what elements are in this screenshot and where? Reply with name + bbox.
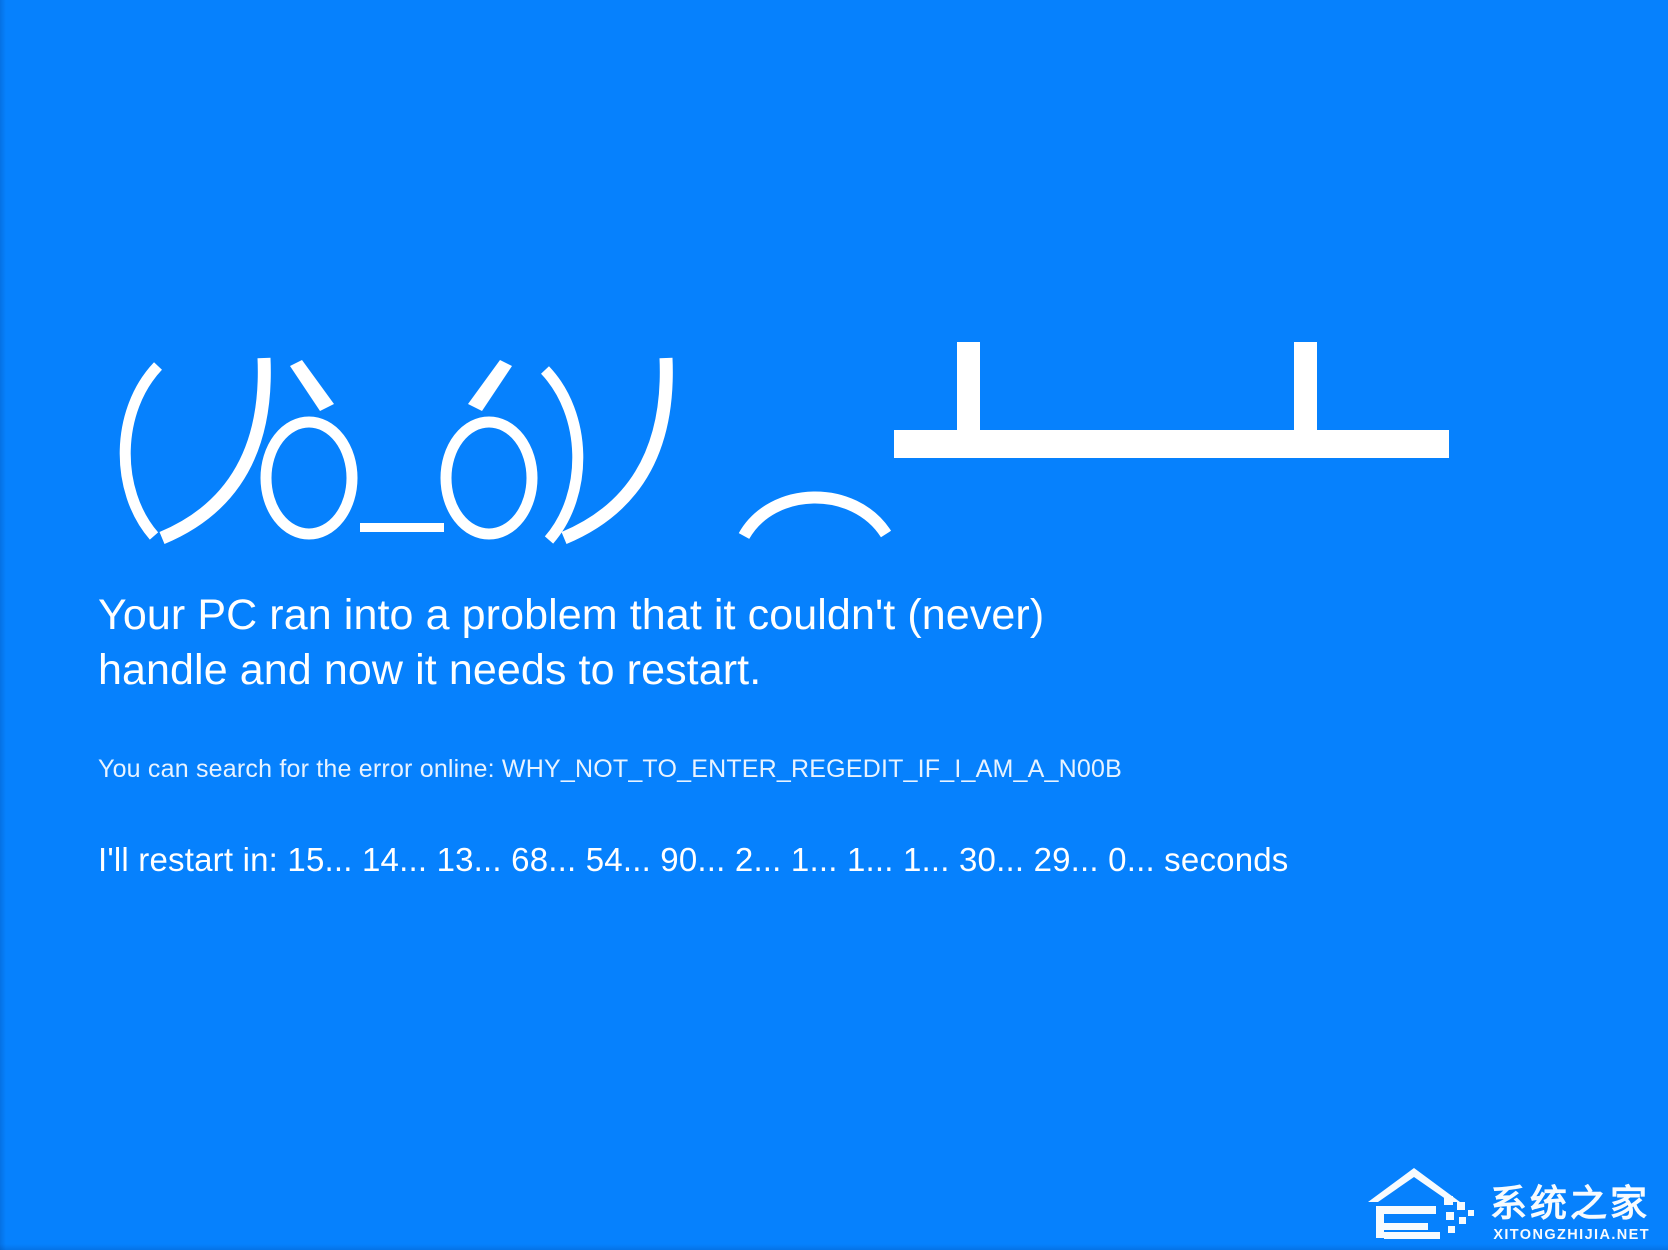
watermark-text: 系统之家 XITONGZHIJIA.NET — [1490, 1185, 1650, 1243]
table-flip-kaomoji-art — [96, 338, 1496, 558]
watermark-site-url: XITONGZHIJIA.NET — [1493, 1228, 1650, 1243]
blue-screen-of-death: Your PC ran into a problem that it could… — [0, 0, 1668, 1250]
page-title: Your PC ran into a problem that it could… — [98, 588, 1198, 698]
watermark-site-name: 系统之家 — [1490, 1185, 1650, 1222]
restart-countdown-line: I'll restart in: 15... 14... 13... 68...… — [98, 841, 1289, 879]
house-chip-logo-icon — [1362, 1166, 1480, 1242]
watermark: 系统之家 XITONGZHIJIA.NET — [1362, 1166, 1650, 1242]
error-search-line: You can search for the error online: WHY… — [98, 755, 1122, 784]
